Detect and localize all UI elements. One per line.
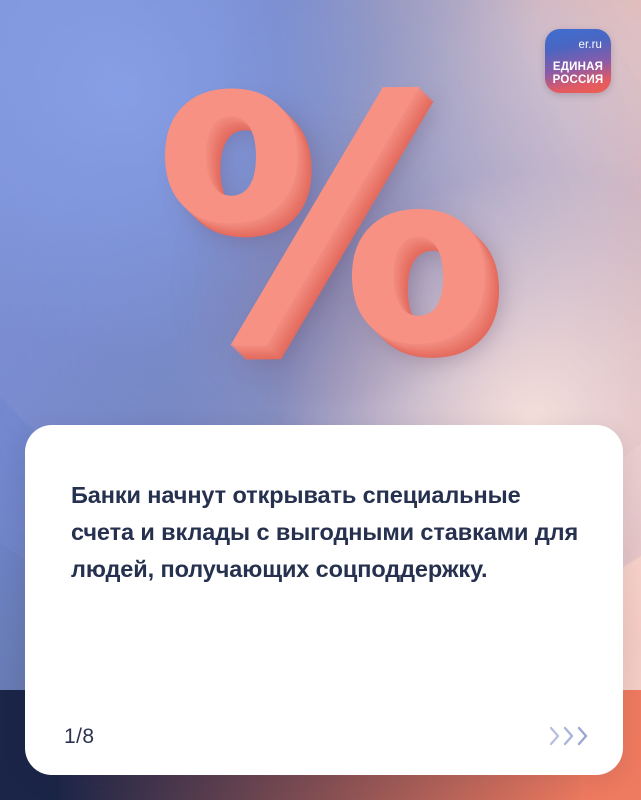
next-slide-chevrons[interactable] [549,725,589,747]
logo-party-name-line2: РОССИЯ [545,74,611,87]
logo-website-url: er.ru [578,39,602,51]
united-russia-logo[interactable]: er.ru ЕДИНАЯ РОССИЯ [545,29,611,93]
percent-graphic: % [150,48,500,408]
chevron-right-icon-2 [563,725,575,747]
card-body-text: Банки начнут открывать специальные счета… [71,477,581,588]
percent-sign-icon: % [148,46,501,409]
page-counter: 1/8 [64,725,94,749]
social-card-slide: % er.ru ЕДИНАЯ РОССИЯ Банки начнут откры… [0,0,641,800]
logo-party-name-line1: ЕДИНАЯ [545,61,611,74]
chevron-right-icon-1 [549,725,561,747]
chevron-right-icon-3 [577,725,589,747]
logo-party-name: ЕДИНАЯ РОССИЯ [545,61,611,86]
content-card: Банки начнут открывать специальные счета… [25,425,623,775]
